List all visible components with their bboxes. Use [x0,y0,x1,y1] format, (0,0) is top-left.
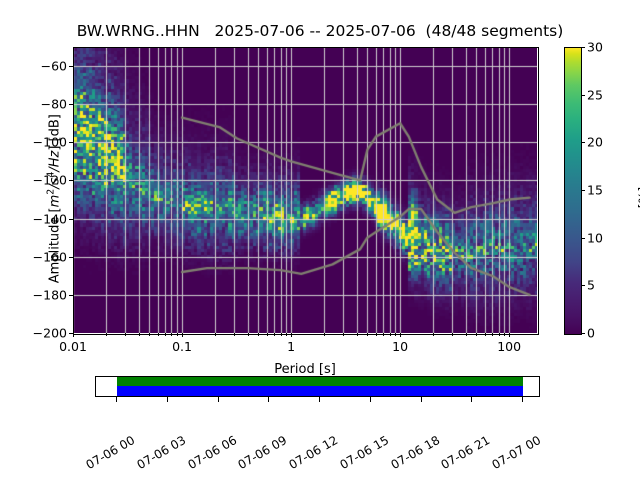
x-tick [291,333,292,337]
y-label-sup2: 4 [45,172,56,178]
x-tick-minor [395,333,396,336]
y-label-suffix: ] [dB] [48,114,63,151]
x-tick-minor [177,333,178,336]
x-tick-minor [125,333,126,336]
timeline-tick [421,397,422,402]
ppsd-plot-area [73,47,537,333]
x-tick-minor [485,333,486,336]
x-tick-minor [499,333,500,336]
colorbar-tick [581,95,585,96]
x-tick-label: 0.01 [59,339,87,354]
y-tick [69,104,73,105]
timeline-tick [522,397,523,402]
colorbar-tick-label: 10 [587,230,603,245]
x-tick-minor [215,333,216,336]
timeline-tick [370,397,371,402]
x-tick-minor [267,333,268,336]
timeline-tick-label: 07-06 03 [134,433,188,472]
y-axis-label: Amplitude [m2/s4/Hz] [dB] [45,49,62,349]
y-tick [69,295,73,296]
x-tick-minor [139,333,140,336]
x-tick-minor [158,333,159,336]
y-label-prefix: Amplitude [ [48,207,63,283]
x-tick [73,333,74,337]
y-label-unit-m: m [48,195,63,208]
x-tick-minor [149,333,150,336]
timeline-axis: 07-06 0007-06 0307-06 0607-06 0907-06 12… [95,397,540,411]
x-tick-minor [274,333,275,336]
colorbar-ticks: 051015202530 [564,47,624,333]
colorbar-label: [%] [636,153,640,243]
x-tick-minor [390,333,391,336]
y-tick [69,66,73,67]
x-tick-minor [171,333,172,336]
colorbar-tick [581,285,585,286]
x-tick-minor [281,333,282,336]
colorbar-tick [581,47,585,48]
colorbar-tick [581,142,585,143]
x-tick-label: 1 [287,339,295,354]
x-tick-label: 0.1 [172,339,192,354]
timeline-tick-label: 07-06 18 [388,433,442,472]
colorbar-tick [581,190,585,191]
timeline-tick-label: 07-06 12 [287,433,341,472]
x-tick-minor [357,333,358,336]
timeline-tick-label: 07-07 00 [490,433,544,472]
x-tick-minor [504,333,505,336]
colorbar-tick [581,238,585,239]
colorbar-tick-label: 0 [587,326,595,341]
colorbar-tick-label: 20 [587,135,603,150]
x-axis-label: Period [s] [73,362,537,377]
timeline-tick-label: 07-06 21 [439,433,493,472]
x-tick-minor [324,333,325,336]
x-tick-minor [466,333,467,336]
y-label-unit-s: /s [48,178,63,189]
x-tick-minor [452,333,453,336]
x-tick-minor [383,333,384,336]
x-tick-minor [165,333,166,336]
x-tick-label: 100 [497,339,521,354]
x-tick-minor [343,333,344,336]
x-tick-minor [286,333,287,336]
ppsd-figure: BW.WRNG..HHN 2025-07-06 -- 2025-07-06 (4… [0,0,640,480]
timeline-tick [167,397,168,402]
x-tick-minor [258,333,259,336]
y-tick [69,257,73,258]
timeline-box [95,376,540,397]
x-tick [182,333,183,337]
x-tick [509,333,510,337]
y-label-unit-hz: /Hz [48,151,63,172]
y-tick [69,219,73,220]
x-tick-minor [234,333,235,336]
x-tick-minor [106,333,107,336]
figure-title: BW.WRNG..HHN 2025-07-06 -- 2025-07-06 (4… [0,22,640,40]
x-tick-minor [433,333,434,336]
colorbar-tick-label: 15 [587,183,603,198]
x-tick-label: 10 [392,339,408,354]
colorbar-tick-label: 5 [587,278,595,293]
timeline-tick [218,397,219,402]
x-tick-minor [248,333,249,336]
timeline-coverage-bar [117,386,523,396]
noise-model-curves [73,47,537,333]
timeline-tick [319,397,320,402]
timeline-tick-label: 07-06 09 [236,433,290,472]
colorbar-tick-label: 25 [587,87,603,102]
timeline-data-bar [117,377,523,386]
timeline-tick [268,397,269,402]
timeline-tick-label: 07-06 15 [337,433,391,472]
x-axis: 0.010.1110100 [73,333,537,363]
x-tick-minor [376,333,377,336]
timeline-tick-label: 07-06 00 [84,433,138,472]
colorbar-tick-label: 30 [587,40,603,55]
x-tick-minor [367,333,368,336]
timeline-tick [471,397,472,402]
x-tick-minor [476,333,477,336]
y-tick [69,142,73,143]
y-label-sup1: 2 [45,189,56,195]
timeline-tick-label: 07-06 06 [185,433,239,472]
x-tick [400,333,401,337]
x-tick-minor [492,333,493,336]
y-tick [69,180,73,181]
colorbar-tick [581,333,585,334]
timeline-tick [116,397,117,402]
